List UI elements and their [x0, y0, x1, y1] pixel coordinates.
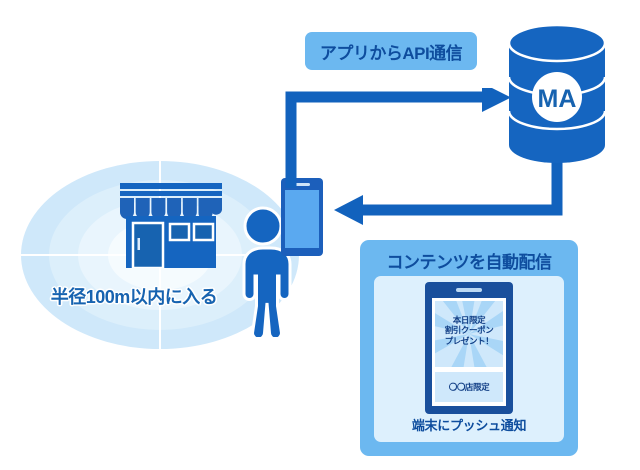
coupon-line-1: 本日限定: [435, 315, 503, 325]
coupon-line-2: 割引クーポン: [435, 325, 503, 335]
coupon-banner: 本日限定 割引クーポン プレゼント！: [435, 301, 503, 367]
radius-label: 半径100m以内に入る: [10, 283, 258, 309]
diagram-canvas: 半径100m以内に入る: [0, 0, 640, 470]
coupon-line-3: プレゼント！: [435, 336, 503, 346]
api-communication-banner: アプリからAPI通信: [305, 32, 477, 70]
content-delivery-panel: コンテンツを自動配信: [360, 240, 578, 456]
push-notification-label: 端末にプッシュ通知: [374, 415, 564, 434]
coupon-smartphone: 本日限定 割引クーポン プレゼント！ 〇〇店限定: [425, 282, 513, 414]
coupon-store-label: 〇〇店限定: [449, 381, 490, 393]
api-banner-label: アプリからAPI通信: [320, 39, 462, 64]
storefront-icon: [110, 183, 232, 268]
coupon-text-block: 本日限定 割引クーポン プレゼント！: [435, 315, 503, 346]
ma-database-icon: MA: [505, 25, 609, 165]
phone-speaker: [456, 288, 482, 292]
content-panel-title: コンテンツを自動配信: [360, 248, 578, 273]
coupon-store-note: 〇〇店限定: [435, 372, 503, 402]
content-panel-inner: 本日限定 割引クーポン プレゼント！ 〇〇店限定 端末にプッシュ通知: [374, 276, 564, 442]
ma-database-label: MA: [538, 85, 577, 113]
coupon-phone-screen: 本日限定 割引クーポン プレゼント！ 〇〇店限定: [432, 298, 506, 406]
smartphone-icon: [281, 178, 323, 256]
